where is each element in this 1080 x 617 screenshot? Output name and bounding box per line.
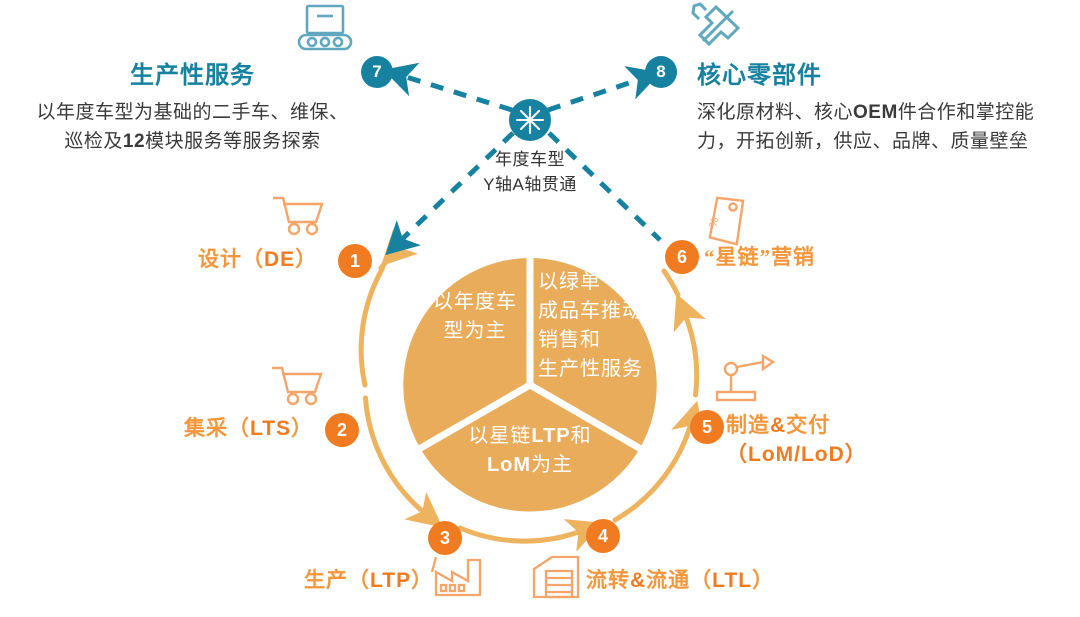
badge-7[interactable]: 7: [361, 56, 393, 88]
price-tag-icon: %: [700, 191, 754, 251]
hammer-wrench-icon: [693, 4, 738, 44]
pie-bottom-line1: 以星链LTP和: [420, 422, 640, 451]
badge-8[interactable]: 8: [645, 56, 677, 88]
badge-1-number: 1: [350, 251, 360, 272]
factory-icon: [432, 557, 480, 595]
top-right-body-post: 件合作和掌控能: [898, 102, 1035, 123]
badge-1[interactable]: 1: [338, 244, 372, 278]
badge-6-number: 6: [677, 247, 687, 268]
ring-label-5: 制造&交付 （LoM/LoD）: [726, 411, 867, 470]
hub-node: [509, 99, 551, 141]
pie-sector-left-label: 以年度车 型为主: [410, 288, 540, 346]
pie-bottom-line2: LoM为主: [420, 451, 640, 480]
top-right-body: 深化原材料、核心OEM件合作和掌控能 力，开拓创新，供应、品牌、质量壁垒: [697, 99, 1069, 156]
badge-2[interactable]: 2: [325, 413, 359, 447]
shopping-cart-icon-1: [273, 198, 322, 234]
top-left-title: 生产性服务: [20, 55, 365, 90]
pie-sector-right-label: 以绿单 成品车推动 销售和 生产性服务: [538, 268, 643, 384]
badge-3[interactable]: 3: [428, 521, 462, 555]
badge-5[interactable]: 5: [690, 410, 724, 444]
shopping-cart-icon-2: [272, 368, 321, 404]
conveyor-belt-icon: [299, 6, 351, 49]
badge-2-number: 2: [337, 420, 347, 441]
ring-label-2: 集采（LTS）: [184, 414, 313, 443]
dash-hub-to-7: [400, 75, 512, 110]
warehouse-icon: [534, 557, 578, 597]
top-left-body-num: 12: [123, 131, 145, 152]
top-left-body-pre: 巡检及: [64, 131, 123, 152]
top-right-body-line2: 力，开拓创新，供应、品牌、质量壁垒: [697, 128, 1069, 157]
top-left-body-post: 模块服务等服务探索: [145, 131, 321, 152]
badge-4[interactable]: 4: [586, 519, 620, 553]
ring-label-6: “星链”营销: [704, 243, 815, 271]
top-left-block: 生产性服务 以年度车型为基础的二手车、维保、 巡检及12模块服务等服务探索: [20, 55, 365, 156]
badge-4-number: 4: [598, 526, 608, 547]
top-right-body-pre: 深化原材料、核心: [697, 102, 853, 123]
ring-label-1: 设计（DE）: [198, 245, 317, 274]
top-right-block: 核心零部件 深化原材料、核心OEM件合作和掌控能 力，开拓创新，供应、品牌、质量…: [697, 55, 1069, 156]
badge-8-number: 8: [656, 62, 665, 82]
diagram-canvas: % 生产性服务 以年度车型为基础的二手车、维保、 巡检及12模块服务等服务探索 …: [0, 0, 1080, 617]
top-left-body: 以年度车型为基础的二手车、维保、 巡检及12模块服务等服务探索: [20, 99, 365, 156]
pie-sector-bottom-label: 以星链LTP和 LoM为主: [420, 422, 640, 480]
hub-caption-line1: 年度车型: [430, 148, 630, 173]
hub-caption-line2: Y轴A轴贯通: [430, 173, 630, 198]
ring-label-4: 流转&流通（LTL）: [586, 566, 774, 595]
badge-7-number: 7: [372, 62, 381, 82]
badge-5-number: 5: [702, 417, 712, 438]
robot-arm-icon: [717, 356, 773, 400]
svg-text:%: %: [707, 216, 721, 229]
hub-axis-a: A: [513, 175, 525, 194]
badge-3-number: 3: [440, 528, 450, 549]
badge-6[interactable]: 6: [665, 240, 699, 274]
top-right-title: 核心零部件: [697, 55, 1069, 90]
hub-axis-y: Y: [483, 175, 495, 194]
dash-hub-to-8: [548, 78, 644, 110]
top-right-body-num: OEM: [853, 102, 898, 123]
hub-caption: 年度车型 Y轴A轴贯通: [430, 148, 630, 197]
ring-label-3: 生产（LTP）: [304, 566, 433, 595]
